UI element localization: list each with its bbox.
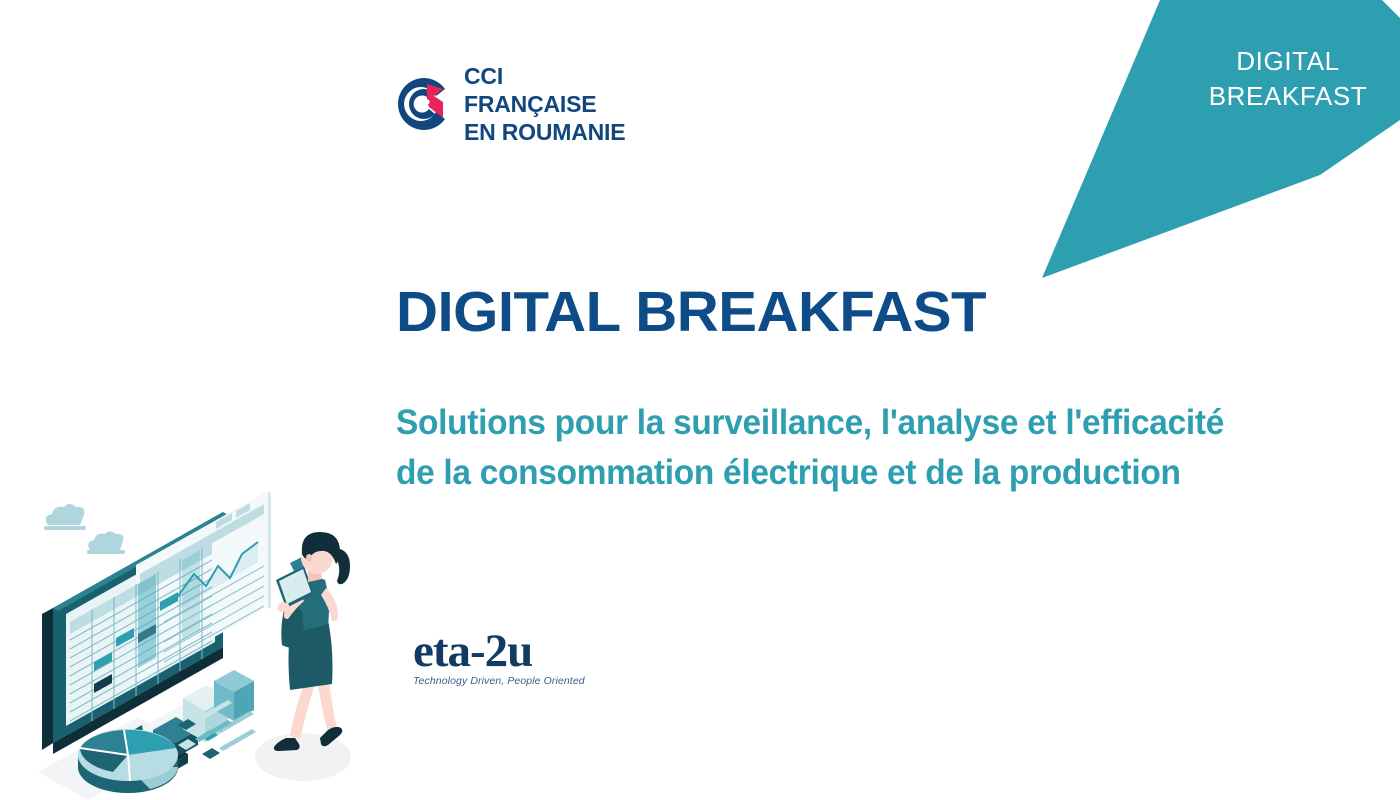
- digital-breakfast-corner-badge: DIGITAL BREAKFAST: [1020, 0, 1400, 290]
- page-subtitle: Solutions pour la surveillance, l'analys…: [396, 398, 1227, 498]
- person-shadow: [255, 733, 351, 781]
- corner-badge-label: DIGITAL BREAKFAST: [1188, 44, 1388, 114]
- ear: [306, 554, 312, 562]
- clouds-icon: [44, 504, 125, 554]
- cci-wordmark: CCI FRANÇAISE EN ROUMANIE: [464, 62, 636, 146]
- leg-back: [290, 684, 314, 739]
- eta-2u-wordmark: eta-2u: [413, 629, 593, 673]
- ponytail: [330, 548, 350, 584]
- monitor-left-edge: [42, 608, 53, 750]
- spreadsheet-sheet-edge: [268, 491, 271, 609]
- pie-chart: [78, 729, 178, 793]
- cci-monogram-icon: [396, 76, 452, 132]
- corner-badge-shape: [1042, 0, 1400, 278]
- eta-2u-logo: eta-2u Technology Driven, People Oriente…: [413, 629, 593, 691]
- data-analysis-isometric-illustration: [18, 462, 368, 800]
- page-title: DIGITAL BREAKFAST: [396, 281, 986, 343]
- leg-front: [318, 682, 337, 732]
- slide-canvas: DIGITAL BREAKFAST CCI FRANÇAISE EN ROUMA…: [0, 0, 1400, 800]
- eta-2u-tagline: Technology Driven, People Oriented: [413, 675, 593, 687]
- spreadsheet-column-band: [138, 574, 156, 668]
- cci-logo: CCI FRANÇAISE EN ROUMANIE: [396, 68, 636, 140]
